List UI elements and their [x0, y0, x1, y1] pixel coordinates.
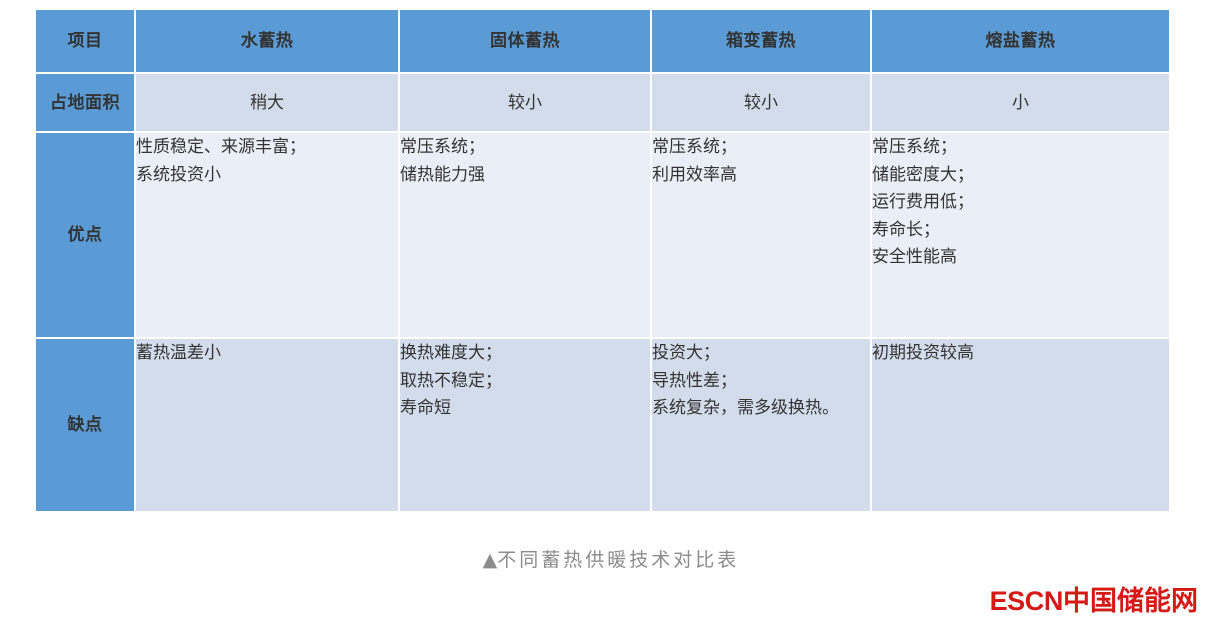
cell-line: 蓄热温差小 — [136, 339, 398, 367]
table-cell-footprint-water: 稍大 — [136, 74, 398, 131]
table-row: 占地面积 稍大 较小 较小 小 — [36, 74, 1169, 131]
cell-line: 储热能力强 — [400, 161, 650, 189]
table-header-cell-molten-salt: 熔盐蓄热 — [872, 10, 1169, 72]
table-cell-disadvantages-water: 蓄热温差小 — [136, 339, 398, 511]
table-cell-disadvantages-molten-salt: 初期投资较高 — [872, 339, 1169, 511]
thermal-storage-comparison-table: 项目 水蓄热 固体蓄热 箱变蓄热 熔盐蓄热 占地面积 稍大 较小 较小 小 优点… — [34, 8, 1171, 513]
table-row: 优点 性质稳定、来源丰富；系统投资小 常压系统；储热能力强 常压系统；利用效率高… — [36, 133, 1169, 337]
cell-line: 常压系统； — [400, 133, 650, 161]
table-cell-disadvantages-phase-change: 投资大；导热性差；系统复杂，需多级换热。 — [652, 339, 870, 511]
table-row: 缺点 蓄热温差小 换热难度大；取热不稳定；寿命短 投资大；导热性差；系统复杂，需… — [36, 339, 1169, 511]
triangle-marker-icon: ▲ — [483, 549, 498, 571]
table-cell-advantages-molten-salt: 常压系统；储能密度大；运行费用低；寿命长；安全性能高 — [872, 133, 1169, 337]
table-cell-disadvantages-solid: 换热难度大；取热不稳定；寿命短 — [400, 339, 650, 511]
figure-caption-text: 不同蓄热供暖技术对比表 — [497, 549, 739, 571]
row-label-footprint: 占地面积 — [36, 74, 134, 131]
escn-logo: ESCN中国储能网 — [990, 588, 1198, 615]
table-header-cell-phase-change: 箱变蓄热 — [652, 10, 870, 72]
table-cell-advantages-phase-change: 常压系统；利用效率高 — [652, 133, 870, 337]
cell-line: 常压系统； — [652, 133, 870, 161]
cell-line: 初期投资较高 — [872, 339, 1169, 367]
cell-line: 寿命短 — [400, 394, 650, 422]
escn-logo-cjk: 中国储能网 — [1063, 586, 1198, 617]
cell-line: 换热难度大； — [400, 339, 650, 367]
row-label-disadvantages: 缺点 — [36, 339, 134, 511]
cell-line: 取热不稳定； — [400, 367, 650, 395]
cell-line: 系统投资小 — [136, 161, 398, 189]
table-header-cell-solid: 固体蓄热 — [400, 10, 650, 72]
cell-line: 安全性能高 — [872, 243, 1169, 271]
cell-line: 系统复杂，需多级换热。 — [652, 394, 870, 422]
figure-caption: ▲不同蓄热供暖技术对比表 — [0, 545, 1222, 572]
cell-line: 运行费用低； — [872, 188, 1169, 216]
cell-line: 导热性差； — [652, 367, 870, 395]
cell-line: 利用效率高 — [652, 161, 870, 189]
table-cell-footprint-solid: 较小 — [400, 74, 650, 131]
table-header-cell-item: 项目 — [36, 10, 134, 72]
page-root: 项目 水蓄热 固体蓄热 箱变蓄热 熔盐蓄热 占地面积 稍大 较小 较小 小 优点… — [0, 0, 1222, 625]
table-header-cell-water: 水蓄热 — [136, 10, 398, 72]
cell-line: 常压系统； — [872, 133, 1169, 161]
cell-line: 性质稳定、来源丰富； — [136, 133, 398, 161]
cell-line: 投资大； — [652, 339, 870, 367]
table-header-row: 项目 水蓄热 固体蓄热 箱变蓄热 熔盐蓄热 — [36, 10, 1169, 72]
cell-line: 寿命长； — [872, 216, 1169, 244]
table-cell-advantages-solid: 常压系统；储热能力强 — [400, 133, 650, 337]
escn-logo-latin: ESCN — [990, 586, 1063, 616]
row-label-advantages: 优点 — [36, 133, 134, 337]
table-cell-advantages-water: 性质稳定、来源丰富；系统投资小 — [136, 133, 398, 337]
table-cell-footprint-molten-salt: 小 — [872, 74, 1169, 131]
table-cell-footprint-phase-change: 较小 — [652, 74, 870, 131]
cell-line: 储能密度大； — [872, 161, 1169, 189]
